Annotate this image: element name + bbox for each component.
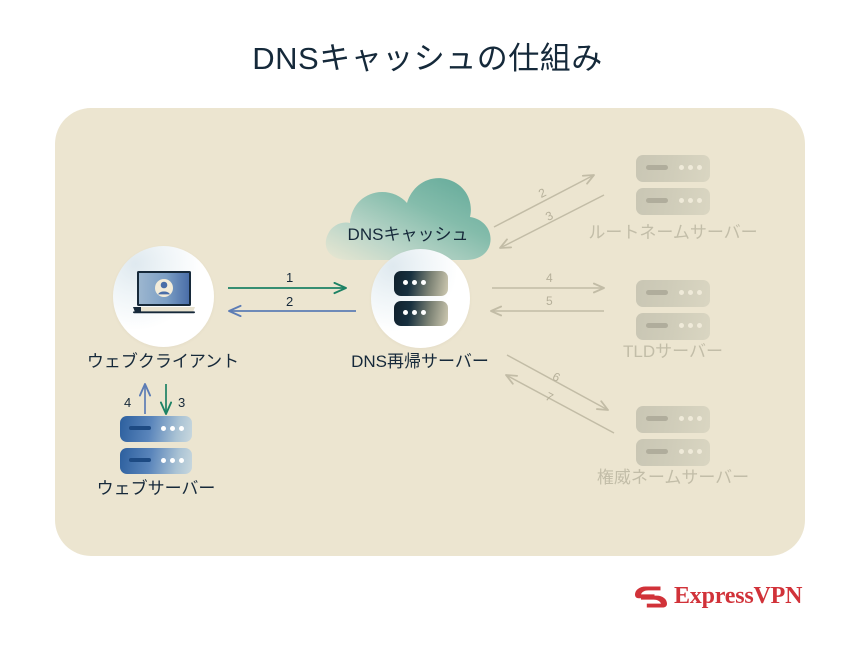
server-bar — [129, 458, 151, 462]
arrow-label-tld-5: 5 — [546, 295, 553, 307]
tld-server-node — [636, 280, 710, 340]
server-bay-top — [636, 406, 710, 433]
server-dots — [679, 198, 702, 203]
arrow-label-3: 3 — [178, 396, 185, 409]
web-server-label: ウェブサーバー — [36, 480, 276, 499]
authoritative-name-server-node — [636, 406, 710, 466]
server-dots — [679, 416, 702, 421]
server-dots — [161, 458, 184, 463]
arrow-label-tld-4: 4 — [546, 272, 553, 284]
arrow-label-4: 4 — [124, 396, 131, 409]
server-bay-bottom — [636, 188, 710, 215]
server-dots — [679, 323, 702, 328]
server-bay-top — [636, 155, 710, 182]
server-bar — [646, 449, 668, 454]
server-dots — [161, 426, 184, 431]
server-bar — [129, 426, 151, 430]
server-bar — [646, 198, 668, 203]
server-icon — [394, 271, 448, 326]
web-client-node — [113, 246, 214, 347]
web-client-label: ウェブクライアント — [38, 353, 288, 372]
server-bar — [646, 165, 668, 170]
server-bay-bottom — [636, 439, 710, 466]
root-name-server-label: ルートネームサーバー — [548, 224, 798, 243]
server-dots — [403, 310, 426, 315]
laptop-user-icon — [131, 268, 197, 316]
expressvpn-wordmark: ExpressVPN — [674, 583, 802, 610]
server-bay-top — [394, 271, 448, 296]
server-bay-bottom — [636, 313, 710, 340]
page-title: DNSキャッシュの仕組み — [0, 40, 855, 77]
dns-recursive-server-label: DNS再帰サーバー — [295, 353, 545, 372]
web-server-node — [120, 416, 192, 474]
server-bay-bottom — [394, 301, 448, 326]
arrow-label-2: 2 — [286, 295, 293, 308]
server-bar — [646, 323, 668, 328]
server-dots — [679, 290, 702, 295]
server-bay-bottom — [120, 448, 192, 474]
expressvpn-logo: ExpressVPN — [634, 578, 794, 618]
dns-recursive-server-node — [371, 249, 470, 348]
tld-server-label: TLDサーバー — [548, 343, 798, 362]
server-bar — [646, 416, 668, 421]
root-name-server-node — [636, 155, 710, 215]
server-bar — [646, 290, 668, 295]
arrow-label-1: 1 — [286, 271, 293, 284]
server-dots — [403, 280, 426, 285]
server-dots — [679, 165, 702, 170]
server-bay-top — [120, 416, 192, 442]
server-dots — [679, 449, 702, 454]
server-bay-top — [636, 280, 710, 307]
authoritative-name-server-label: 権威ネームサーバー — [548, 469, 798, 488]
diagram-canvas: DNSキャッシュの仕組み — [0, 0, 855, 657]
expressvpn-mark-icon — [634, 582, 668, 612]
dns-cache-label: DNSキャッシュ — [318, 220, 498, 245]
